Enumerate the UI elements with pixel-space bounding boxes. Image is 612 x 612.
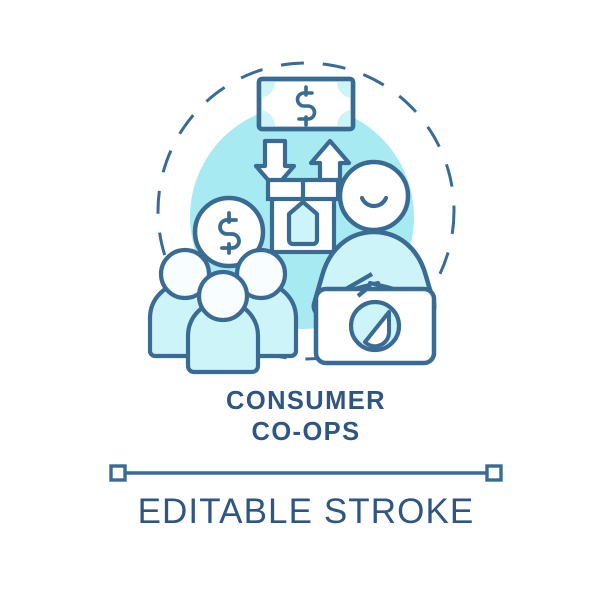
title-line-1: CONSUMER (0, 386, 612, 417)
product-box (268, 180, 338, 252)
banknote (259, 79, 353, 129)
illustration-stage (0, 46, 612, 376)
price-tag (289, 202, 317, 244)
editable-stroke-bar (0, 455, 612, 491)
editable-stroke-text: EDITABLE STROKE (0, 492, 612, 532)
eco-bag (316, 274, 434, 363)
title-line-2: CO-OPS (0, 417, 612, 448)
concept-icon-page: CONSUMER CO-OPS EDITABLE STROKE (0, 0, 612, 612)
footer-label: EDITABLE STROKE (0, 492, 612, 532)
consumer-coops-illustration (0, 46, 612, 376)
stroke-handle-left[interactable] (111, 466, 125, 480)
page-title: CONSUMER CO-OPS (0, 386, 612, 448)
banknote-dollar-symbol (298, 87, 315, 125)
shopper-head (340, 162, 408, 230)
stroke-bar-graphic (0, 455, 612, 491)
stroke-handle-right[interactable] (487, 466, 501, 480)
